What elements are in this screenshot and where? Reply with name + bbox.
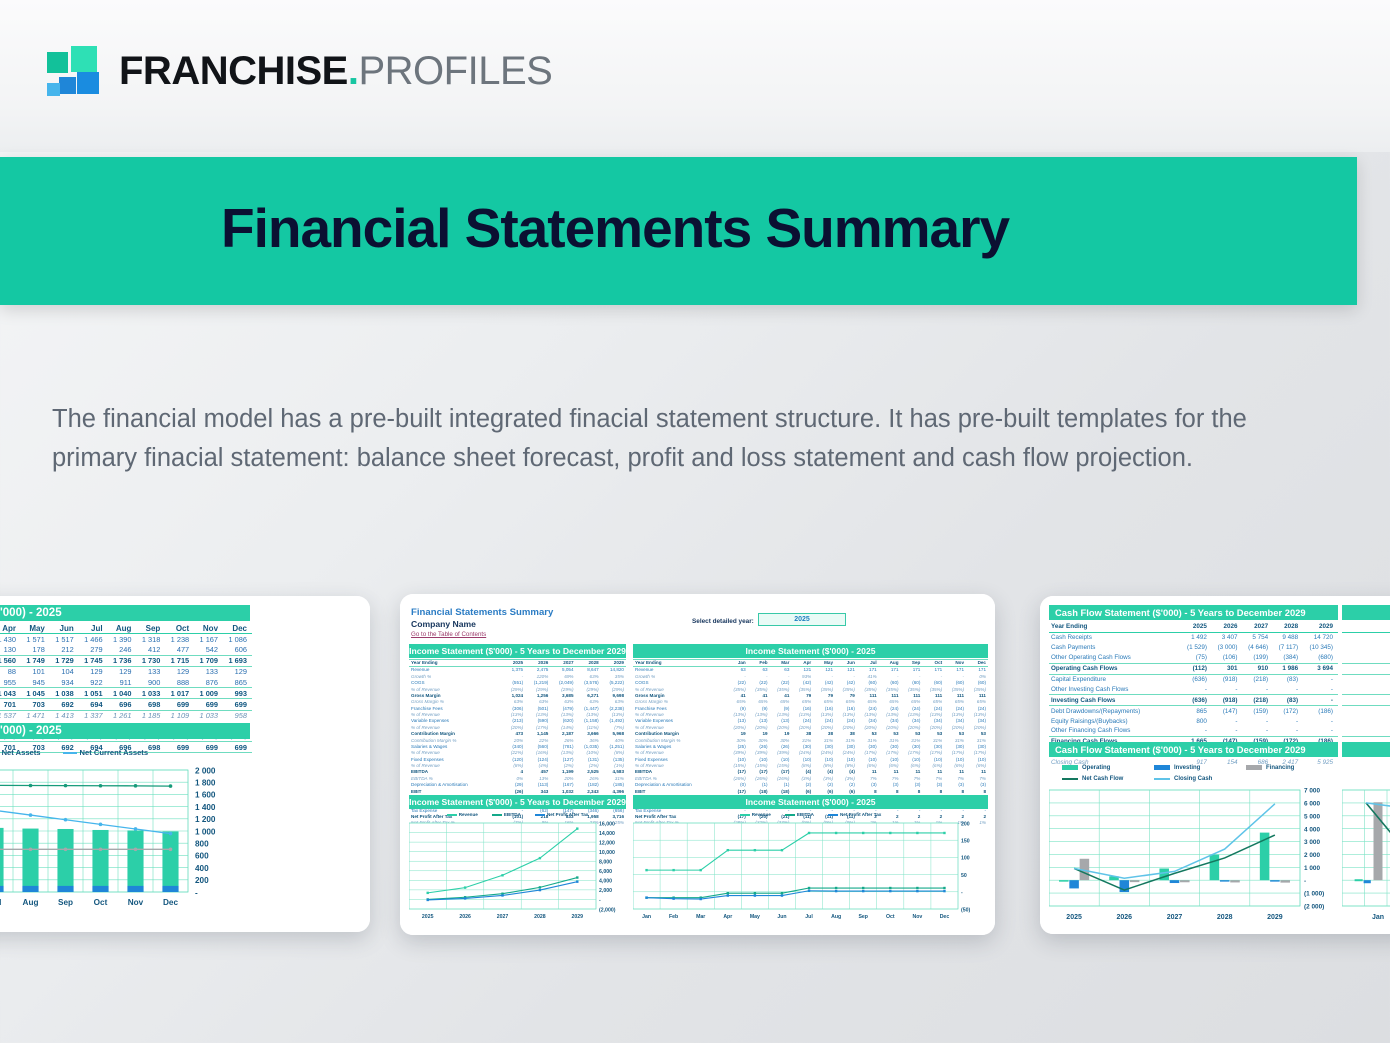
cell: 412	[136, 644, 165, 655]
svg-text:-: -	[1304, 878, 1306, 885]
col-header: Dec	[223, 623, 252, 634]
svg-text:(1 000): (1 000)	[1304, 891, 1324, 898]
cell: -	[1243, 716, 1274, 726]
cell: 246	[108, 644, 137, 655]
cell: -	[1342, 726, 1390, 736]
row-label: Year Ending	[409, 660, 503, 667]
table-row: -	[1342, 684, 1390, 694]
cell: 1 086	[223, 634, 252, 645]
legend-item: Closing Cash	[1154, 776, 1246, 782]
cell: (1 529)	[1181, 643, 1212, 653]
table-row: Contribution Margin %20%22%26%36%40%	[409, 738, 626, 744]
row-label: Debt Drawdowns/(Repayments)	[1049, 706, 1181, 716]
table-row: Year Ending20252026202720282029	[1049, 622, 1338, 632]
table-row: Net Assets689694698701703692694696698699…	[0, 699, 252, 710]
cell: 2025	[1181, 622, 1212, 632]
svg-text:400: 400	[195, 864, 209, 873]
cell: 121	[791, 667, 813, 674]
row-label: Investing Cash Flows	[1049, 695, 1181, 706]
svg-text:1 800: 1 800	[195, 779, 216, 788]
balance-sheet-chart: 2 0001 8001 6001 4001 2001 0008006004002…	[0, 764, 250, 914]
svg-text:Feb: Feb	[669, 914, 678, 920]
cell: 8,647	[576, 667, 601, 674]
table-row: Other Investing Cash Flows-----	[1049, 684, 1338, 694]
cell: 14 720	[1303, 632, 1338, 642]
cell: 32	[1342, 632, 1390, 642]
cell: 101	[21, 666, 50, 677]
cell: 989	[1342, 706, 1390, 716]
cell: (75)	[1181, 653, 1212, 663]
cell: Nov	[944, 660, 966, 667]
cell: -	[1181, 684, 1212, 694]
legend-swatch	[535, 814, 545, 816]
cell: 900	[136, 677, 165, 688]
svg-text:2 000: 2 000	[1304, 852, 1320, 859]
cell: 922	[79, 677, 108, 688]
cell: -	[1303, 726, 1338, 736]
svg-text:600: 600	[195, 852, 209, 861]
cell: Jun	[835, 660, 857, 667]
cash-flow-table-header-continuation	[1342, 605, 1390, 620]
svg-text:5 000: 5 000	[1304, 813, 1320, 820]
cell: 1 729	[50, 655, 79, 666]
logo-squares-icon	[47, 46, 103, 96]
cell: 178	[21, 644, 50, 655]
balance-sheet-screenshot: Balance Sheet ($'000) - 2025 JanFebMarAp…	[0, 596, 370, 932]
svg-text:2025: 2025	[422, 914, 434, 920]
svg-text:14,000: 14,000	[599, 831, 615, 837]
cell: Aug	[879, 660, 901, 667]
cell: 888	[165, 677, 194, 688]
cell: 542	[194, 644, 223, 655]
cell: 2025	[503, 660, 525, 667]
row-label: Year Ending	[633, 660, 726, 667]
legend-label: Net Cash Flow	[1082, 776, 1123, 782]
svg-text:(2 000): (2 000)	[1304, 904, 1324, 911]
svg-text:Apr: Apr	[723, 914, 732, 920]
legend-item: Revenue	[447, 812, 478, 817]
cell: Mar	[770, 660, 792, 667]
svg-text:-: -	[195, 888, 198, 897]
svg-text:Nov: Nov	[912, 914, 922, 920]
table-row: -	[1342, 726, 1390, 736]
legend-item: Net Cash Flow	[1062, 776, 1154, 782]
cell: 2028	[576, 660, 601, 667]
cell: -	[1212, 684, 1243, 694]
svg-text:4,000: 4,000	[599, 879, 612, 885]
legend-label: Closing Cash	[1174, 776, 1212, 782]
legend-swatch	[740, 814, 750, 816]
legend-label: Net Profit After Tax	[840, 812, 881, 817]
svg-text:16,000: 16,000	[599, 821, 615, 827]
cell: -	[1212, 716, 1243, 726]
table-row: Other Financing Cash Flows-----	[1049, 726, 1338, 736]
legend-row: OperatingInvestingFinancing	[1062, 762, 1338, 773]
table-row: Variable Expenses(213)(590)(620)(1,158)(…	[409, 718, 626, 724]
cell: (7 117)	[1273, 643, 1303, 653]
svg-text:800: 800	[195, 840, 209, 849]
cell: 692	[50, 699, 79, 710]
cash-flow-chart-header: Cash Flow Statement ($'000) - 5 Years to…	[1049, 742, 1338, 757]
screenshot-card-income-statement[interactable]: Financial Statements Summary Company Nam…	[400, 594, 995, 935]
svg-text:Sep: Sep	[858, 914, 868, 920]
row-label: Operating Cash Flows	[1049, 663, 1181, 674]
cell: 911	[108, 677, 137, 688]
svg-text:Dec: Dec	[940, 914, 950, 920]
cell: 606	[223, 644, 252, 655]
svg-text:150: 150	[961, 839, 970, 845]
row-label: Year Ending	[1049, 622, 1181, 632]
brand-name-bold: FRANCHISE	[119, 49, 348, 93]
row-label: Revenue	[409, 667, 503, 674]
brand-wordmark: FRANCHISE.PROFILES	[119, 51, 552, 91]
cell: 910	[1243, 663, 1274, 674]
legend-item: Net Assets	[0, 748, 41, 757]
legend-row: Net Cash FlowClosing Cash	[1062, 773, 1338, 784]
cell: (3 000)	[1212, 643, 1243, 653]
svg-text:2028: 2028	[534, 914, 546, 920]
cell: 865	[1181, 706, 1212, 716]
table-row: Cash Receipts1 4923 4075 7549 48814 720	[1049, 632, 1338, 642]
svg-text:Aug: Aug	[831, 914, 841, 920]
legend-item: Net Profit After Tax	[828, 812, 881, 817]
cell: (22)	[1342, 663, 1390, 674]
cell: 171	[944, 667, 966, 674]
svg-text:2026: 2026	[459, 914, 471, 920]
legend-swatch	[447, 814, 457, 816]
legend-label: Operating	[1082, 765, 1110, 771]
balance-sheet-chart-header: Balance Sheet ($'000) - 2025	[0, 723, 250, 739]
legend-swatch	[1062, 778, 1078, 780]
cell: 121	[813, 667, 835, 674]
cell: Sep	[901, 660, 923, 667]
table-row: Other Operating Cash Flows(75)(106)(199)…	[1049, 653, 1338, 663]
cell: 1 517	[50, 634, 79, 645]
table-row: Gross Margin %63%63%63%63%63%	[409, 699, 626, 705]
income-statement-screenshot: Financial Statements Summary Company Nam…	[400, 594, 995, 935]
legend-swatch	[828, 814, 838, 816]
svg-text:50: 50	[961, 873, 967, 879]
table-row: Investing Cash Flows(636)(918)(218)(83)-	[1049, 695, 1338, 706]
svg-text:8,000: 8,000	[599, 860, 612, 866]
row-label: Capital Expenditure	[1049, 674, 1181, 684]
cash-flow-chart-legend: OperatingInvestingFinancingNet Cash Flow…	[1062, 762, 1338, 784]
cell: 1 730	[136, 655, 165, 666]
svg-text:2027: 2027	[497, 914, 509, 920]
cell: 1 045	[21, 688, 50, 699]
svg-text:2026: 2026	[1117, 914, 1133, 921]
table-row: Year Ending20252026202720282029	[409, 660, 626, 667]
cell: (10 345)	[1303, 643, 1338, 653]
svg-text:Jan: Jan	[1372, 914, 1384, 921]
cell: 1 466	[79, 634, 108, 645]
cell: 1 318	[136, 634, 165, 645]
cell: 5 754	[1243, 632, 1274, 642]
cell: 2029	[1303, 622, 1338, 632]
cell: Feb	[748, 660, 770, 667]
cell: (636)	[1181, 674, 1212, 684]
cell: 1 043	[0, 688, 21, 699]
cell: 993	[223, 688, 252, 699]
table-row: Year EndingJanFebMarAprMayJunJulAugSepOc…	[633, 660, 988, 667]
svg-text:2 000: 2 000	[195, 766, 216, 775]
cell: 5,054	[550, 667, 575, 674]
legend-swatch	[785, 814, 795, 816]
svg-text:2028: 2028	[1217, 914, 1233, 921]
cell: 9 488	[1273, 632, 1303, 642]
svg-text:200: 200	[961, 821, 970, 827]
cell: 1 009	[194, 688, 223, 699]
table-row: Revenue1,3752,4755,0548,64714,820	[409, 667, 626, 674]
cell: 477	[165, 644, 194, 655]
cell: -	[1303, 684, 1338, 694]
cell: 88	[0, 666, 21, 677]
table-row: Depreciation & Amortisation(29)(113)(167…	[409, 782, 626, 788]
company-name: Company Name	[411, 619, 476, 629]
table-row: Cash Payments(1 529)(3 000)(4 646)(7 117…	[1049, 643, 1338, 653]
cell: 1 051	[79, 688, 108, 699]
cell: -	[1273, 716, 1303, 726]
legend-item: Net Current Assets	[63, 748, 149, 757]
legend-swatch	[1154, 765, 1170, 770]
brand-name-light: PROFILES	[358, 49, 552, 93]
cell: (918)	[1212, 695, 1243, 706]
cell: 129	[79, 666, 108, 677]
cell: 1 693	[223, 655, 252, 666]
cell: 1 017	[165, 688, 194, 699]
table-row: 1 731	[1342, 758, 1390, 768]
svg-text:(50): (50)	[961, 907, 970, 913]
svg-text:1 400: 1 400	[195, 803, 216, 812]
income-5yr-chart-header: Income Statement ($'000) - 5 Years to De…	[409, 795, 626, 809]
cash-flow-month-chart: Jan	[1342, 786, 1390, 926]
table-row: (36)	[1342, 674, 1390, 684]
legend-label: Net Current Assets	[80, 748, 149, 757]
cell: 2026	[525, 660, 550, 667]
cell: 1 413	[50, 710, 79, 721]
cell: 171	[966, 667, 988, 674]
cell: -	[1243, 726, 1274, 736]
table-row: (36)	[1342, 695, 1390, 706]
legend-label: EBITDA	[504, 812, 521, 817]
table-row: Total Current Assets9491 0651 3401 5601 …	[0, 655, 252, 666]
table-row: Fixed Assets3658748810110412912913312913…	[0, 666, 252, 677]
col-header: Sep	[136, 623, 165, 634]
cell: 1 261	[108, 710, 137, 721]
svg-text:7 000: 7 000	[1304, 788, 1320, 795]
cell: 1 109	[165, 710, 194, 721]
cell: (159)	[1243, 706, 1274, 716]
cell: 955	[0, 677, 21, 688]
cell: 129	[165, 666, 194, 677]
cell: -	[1303, 695, 1338, 706]
legend-label: Net Assets	[2, 748, 41, 757]
cell: 2027	[550, 660, 575, 667]
cell: -	[1303, 674, 1338, 684]
cell: 171	[857, 667, 879, 674]
body-paragraph: The financial model has a pre-built inte…	[52, 400, 1332, 478]
cell: 129	[108, 666, 137, 677]
income-2025-chart: RevenueEBITDANet Profit After Tax2001501…	[633, 810, 988, 925]
balance-sheet-chart-legend: Total Current LiabilitiesTotal AssetsNet…	[0, 746, 250, 758]
cell: 698	[136, 699, 165, 710]
cell: (83)	[1273, 695, 1303, 706]
cell: 694	[79, 699, 108, 710]
cell: 129	[223, 666, 252, 677]
legend-item: Operating	[1062, 765, 1154, 771]
cell: 1 430	[0, 634, 21, 645]
table-row: Other Current Assets32619513017821227924…	[0, 644, 252, 655]
cell: -	[1181, 726, 1212, 736]
cell: 2,475	[525, 667, 550, 674]
cell: 800	[1181, 716, 1212, 726]
col-header: Nov	[194, 623, 223, 634]
cell: 699	[165, 699, 194, 710]
cell: 171	[901, 667, 923, 674]
balance-sheet-table-header: Balance Sheet ($'000) - 2025	[0, 605, 250, 621]
col-header: May	[21, 623, 50, 634]
row-label: Other Operating Cash Flows	[1049, 653, 1181, 663]
cell: 1 560	[0, 655, 21, 666]
cell: -	[1212, 726, 1243, 736]
svg-text:6 000: 6 000	[1304, 800, 1320, 807]
svg-text:1 200: 1 200	[195, 815, 216, 824]
cell: 1 715	[165, 655, 194, 666]
header-bar: FRANCHISE.PROFILES	[0, 0, 1390, 152]
cell: -	[1273, 684, 1303, 694]
svg-text:100: 100	[961, 856, 970, 862]
cell: (218)	[1243, 674, 1274, 684]
legend-swatch	[63, 752, 77, 754]
svg-text:Jul: Jul	[805, 914, 813, 920]
cell: (83)	[1273, 674, 1303, 684]
svg-text:10,000: 10,000	[599, 850, 615, 856]
cell: 1 709	[194, 655, 223, 666]
cell: (112)	[1181, 663, 1212, 674]
cell: -	[1243, 684, 1274, 694]
page-title: Financial Statements Summary	[221, 198, 1221, 259]
cell: 1 033	[194, 710, 223, 721]
cell: 1 986	[1273, 663, 1303, 674]
table-of-contents-link[interactable]: Go to the Table of Contents	[411, 631, 486, 638]
table-row: 800	[1342, 716, 1390, 726]
col-header: Apr	[0, 623, 21, 634]
brand-logo: FRANCHISE.PROFILES	[47, 46, 552, 96]
select-year-label: Select detailed year:	[692, 618, 754, 625]
cell: (218)	[1243, 695, 1274, 706]
cell: 1 471	[21, 710, 50, 721]
cell: -	[1342, 684, 1390, 694]
brand-dot: .	[348, 49, 359, 93]
cell: 1 537	[0, 710, 21, 721]
cash-flow-chart: 7 0006 0005 0004 0003 0002 0001 000-(1 0…	[1049, 786, 1338, 926]
svg-text:1 000: 1 000	[195, 827, 216, 836]
cell: 701	[0, 699, 21, 710]
chart-legend: RevenueEBITDANet Profit After Tax	[409, 810, 626, 819]
svg-text:12,000: 12,000	[599, 840, 615, 846]
svg-text:Oct: Oct	[94, 898, 108, 907]
cell: 63	[748, 667, 770, 674]
cell: 703	[21, 699, 50, 710]
svg-text:2027: 2027	[1167, 914, 1183, 921]
svg-text:Dec: Dec	[163, 898, 178, 907]
table-row: Net Current Assets1 7311 6691 6011 5371 …	[0, 710, 252, 721]
svg-text:(2,000): (2,000)	[599, 907, 616, 913]
svg-text:6,000: 6,000	[599, 869, 612, 875]
table-row: Cash9171 0041 2451 4301 5711 5171 4661 3…	[0, 634, 252, 645]
cell: 1 033	[136, 688, 165, 699]
cell: 63	[770, 667, 792, 674]
legend-item: EBITDA	[785, 812, 814, 817]
cell: 2028	[1273, 622, 1303, 632]
cell: (47)	[1342, 643, 1390, 653]
cell: 2029	[601, 660, 626, 667]
table-row: Operating Cash Flows(112)3019101 9863 69…	[1049, 663, 1338, 674]
table-row: (7)	[1342, 653, 1390, 663]
table-row: Jan	[1342, 622, 1390, 632]
row-label: Cash Receipts	[1049, 632, 1181, 642]
cell: 301	[1212, 663, 1243, 674]
cell: 1 492	[1181, 632, 1212, 642]
svg-text:May: May	[750, 914, 760, 920]
cell: 945	[21, 677, 50, 688]
legend-label: Investing	[1174, 765, 1200, 771]
row-label: Cash Payments	[1049, 643, 1181, 653]
cell: (636)	[1181, 695, 1212, 706]
income-5yr-chart: RevenueEBITDANet Profit After Tax16,0001…	[409, 810, 626, 925]
table-row: Contribution Margin4731,1452,1873,6665,9…	[409, 731, 626, 737]
cell: 1 040	[108, 688, 137, 699]
cell: 121	[835, 667, 857, 674]
cell: (7)	[1342, 653, 1390, 663]
table-row: Franchise Fees(306)(501)(479)(1,447)(2,2…	[409, 706, 626, 712]
cell: 1 337	[79, 710, 108, 721]
legend-item: Financing	[1246, 765, 1338, 771]
col-header: Jul	[79, 623, 108, 634]
screenshot-card-balance-sheet[interactable]: Balance Sheet ($'000) - 2025 JanFebMarAp…	[0, 596, 370, 932]
cell: 1 731	[1342, 758, 1390, 768]
legend-item: EBITDA	[492, 812, 521, 817]
cell: (384)	[1273, 653, 1303, 663]
svg-text:-: -	[599, 898, 601, 904]
table-row: 32	[1342, 632, 1390, 642]
cell: 1 038	[50, 688, 79, 699]
legend-label: Financing	[1266, 765, 1294, 771]
select-year-input[interactable]: 2025	[758, 613, 846, 626]
svg-text:Jul: Jul	[0, 898, 1, 907]
cell: 3 407	[1212, 632, 1243, 642]
cash-flow-table-header: Cash Flow Statement ($'000) - 5 Years to…	[1049, 605, 1338, 620]
table-row: 989	[1342, 706, 1390, 716]
row-label: Equity Raisings/(Buybacks)	[1049, 716, 1181, 726]
svg-text:1 600: 1 600	[195, 791, 216, 800]
cell: (36)	[1342, 674, 1390, 684]
legend-swatch	[1062, 765, 1078, 770]
cell: Jul	[857, 660, 879, 667]
svg-text:Jan: Jan	[642, 914, 651, 920]
legend-swatch	[1154, 778, 1170, 780]
cell: 63	[726, 667, 748, 674]
svg-text:Aug: Aug	[23, 898, 39, 907]
cell: 1 745	[79, 655, 108, 666]
table-row: (47)	[1342, 643, 1390, 653]
table-row: Total Assets1 0211 0331 0391 0431 0451 0…	[0, 688, 252, 699]
svg-text:200: 200	[195, 876, 209, 885]
cell: 876	[194, 677, 223, 688]
svg-text:3 000: 3 000	[1304, 839, 1320, 846]
cell: Jan	[1342, 622, 1390, 632]
screenshot-card-cash-flow[interactable]: Cash Flow Statement ($'000) - 5 Years to…	[1040, 596, 1390, 934]
